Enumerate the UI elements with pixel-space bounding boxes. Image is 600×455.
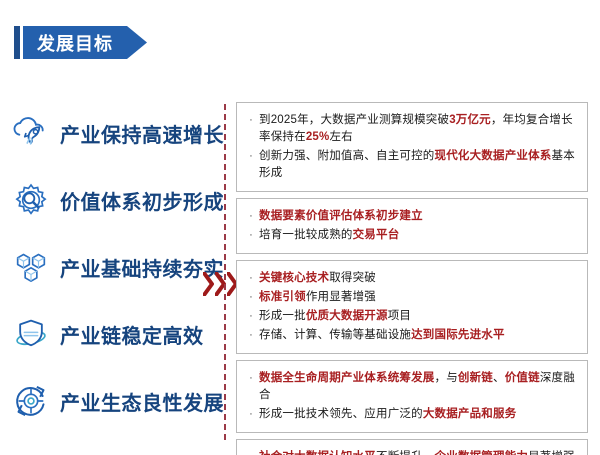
page-title-banner: 发展目标: [14, 26, 147, 59]
sidebar-item-label: 产业基础持续夯实: [60, 253, 224, 282]
box-industry-chain: ·数据全生命周期产业体系统筹发展，与创新链、价值链深度融合·形成一批技术领先、应…: [236, 360, 588, 433]
box-value-system: ·数据要素价值评估体系初步建立·培育一批较成熟的交易平台: [236, 198, 588, 254]
bullet-marker-icon: ·: [243, 370, 259, 387]
bullet-text: 形成一批优质大数据开源项目: [259, 308, 579, 325]
bullet-marker-icon: ·: [243, 112, 259, 129]
dashed-divider: [224, 104, 226, 440]
bullet-marker-icon: ·: [243, 308, 259, 325]
sidebar-item-foundation[interactable]: 产业基础持续夯实: [8, 242, 222, 292]
bullet-item: ·关键核心技术取得突破: [243, 270, 579, 287]
sidebar-item-growth[interactable]: 产业保持高速增长: [8, 108, 222, 158]
banner-accent-bar: [14, 26, 20, 59]
bullet-text: 数据要素价值评估体系初步建立: [259, 208, 579, 225]
sidebar-item-label: 价值体系初步形成: [60, 186, 224, 215]
bullet-marker-icon: ·: [243, 289, 259, 306]
bullet-marker-icon: ·: [243, 449, 259, 455]
sidebar-item-label: 产业保持高速增长: [60, 119, 224, 148]
bullet-item: ·到2025年，大数据产业测算规模突破3万亿元，年均复合增长率保持在25%左右: [243, 112, 579, 146]
box-growth: ·到2025年，大数据产业测算规模突破3万亿元，年均复合增长率保持在25%左右·…: [236, 102, 588, 192]
triple-chevron-right-icon: [203, 272, 238, 296]
sidebar-item-value-system[interactable]: 价值体系初步形成: [8, 175, 222, 225]
bullet-text: 标准引领作用显著增强: [259, 289, 579, 306]
bullet-marker-icon: ·: [243, 270, 259, 287]
bullet-item: ·形成一批优质大数据开源项目: [243, 308, 579, 325]
slide-root: 发展目标 产业保持高速增长: [0, 0, 600, 455]
sidebar-item-ecosystem[interactable]: 产业生态良性发展: [8, 376, 222, 426]
goal-detail-panel: ·到2025年，大数据产业测算规模突破3万亿元，年均复合增长率保持在25%左右·…: [236, 102, 588, 455]
shield-orbit-icon: [8, 311, 54, 357]
bullet-item: ·形成一批技术领先、应用广泛的大数据产品和服务: [243, 406, 579, 423]
bullet-text: 培育一批较成熟的交易平台: [259, 227, 579, 244]
sidebar-item-label: 产业链稳定高效: [60, 320, 204, 349]
bullet-text: 社会对大数据认知水平不断提升，企业数据管理能力显著增强: [259, 449, 579, 455]
cycle-target-icon: [8, 378, 54, 424]
bullet-text: 形成一批技术领先、应用广泛的大数据产品和服务: [259, 406, 579, 423]
bullet-marker-icon: ·: [243, 208, 259, 225]
box-ecosystem: ·社会对大数据认知水平不断提升，企业数据管理能力显著增强·形成具有国际影响力的数…: [236, 439, 588, 455]
bullet-item: ·数据全生命周期产业体系统筹发展，与创新链、价值链深度融合: [243, 370, 579, 404]
bullet-item: ·标准引领作用显著增强: [243, 289, 579, 306]
bullet-item: ·社会对大数据认知水平不断提升，企业数据管理能力显著增强: [243, 449, 579, 455]
gear-magnifier-icon: [8, 177, 54, 223]
bullet-marker-icon: ·: [243, 148, 259, 165]
bullet-marker-icon: ·: [243, 227, 259, 244]
cloud-rocket-icon: [8, 110, 54, 156]
hexagon-cubes-icon: [8, 244, 54, 290]
banner-arrow-shape: 发展目标: [23, 26, 147, 59]
bullet-text: 到2025年，大数据产业测算规模突破3万亿元，年均复合增长率保持在25%左右: [259, 112, 579, 146]
page-title: 发展目标: [37, 30, 113, 56]
bullet-text: 关键核心技术取得突破: [259, 270, 579, 287]
bullet-marker-icon: ·: [243, 406, 259, 423]
bullet-text: 数据全生命周期产业体系统筹发展，与创新链、价值链深度融合: [259, 370, 579, 404]
sidebar-item-industry-chain[interactable]: 产业链稳定高效: [8, 309, 222, 359]
bullet-item: ·创新力强、附加值高、自主可控的现代化大数据产业体系基本形成: [243, 148, 579, 182]
bullet-text: 创新力强、附加值高、自主可控的现代化大数据产业体系基本形成: [259, 148, 579, 182]
sidebar-item-label: 产业生态良性发展: [60, 387, 224, 416]
goal-sidebar: 产业保持高速增长 价值体系初步形成: [0, 100, 222, 445]
bullet-item: ·培育一批较成熟的交易平台: [243, 227, 579, 244]
bullet-text: 存储、计算、传输等基础设施达到国际先进水平: [259, 327, 579, 344]
bullet-marker-icon: ·: [243, 327, 259, 344]
box-foundation: ·关键核心技术取得突破·标准引领作用显著增强·形成一批优质大数据开源项目·存储、…: [236, 260, 588, 354]
bullet-item: ·数据要素价值评估体系初步建立: [243, 208, 579, 225]
bullet-item: ·存储、计算、传输等基础设施达到国际先进水平: [243, 327, 579, 344]
